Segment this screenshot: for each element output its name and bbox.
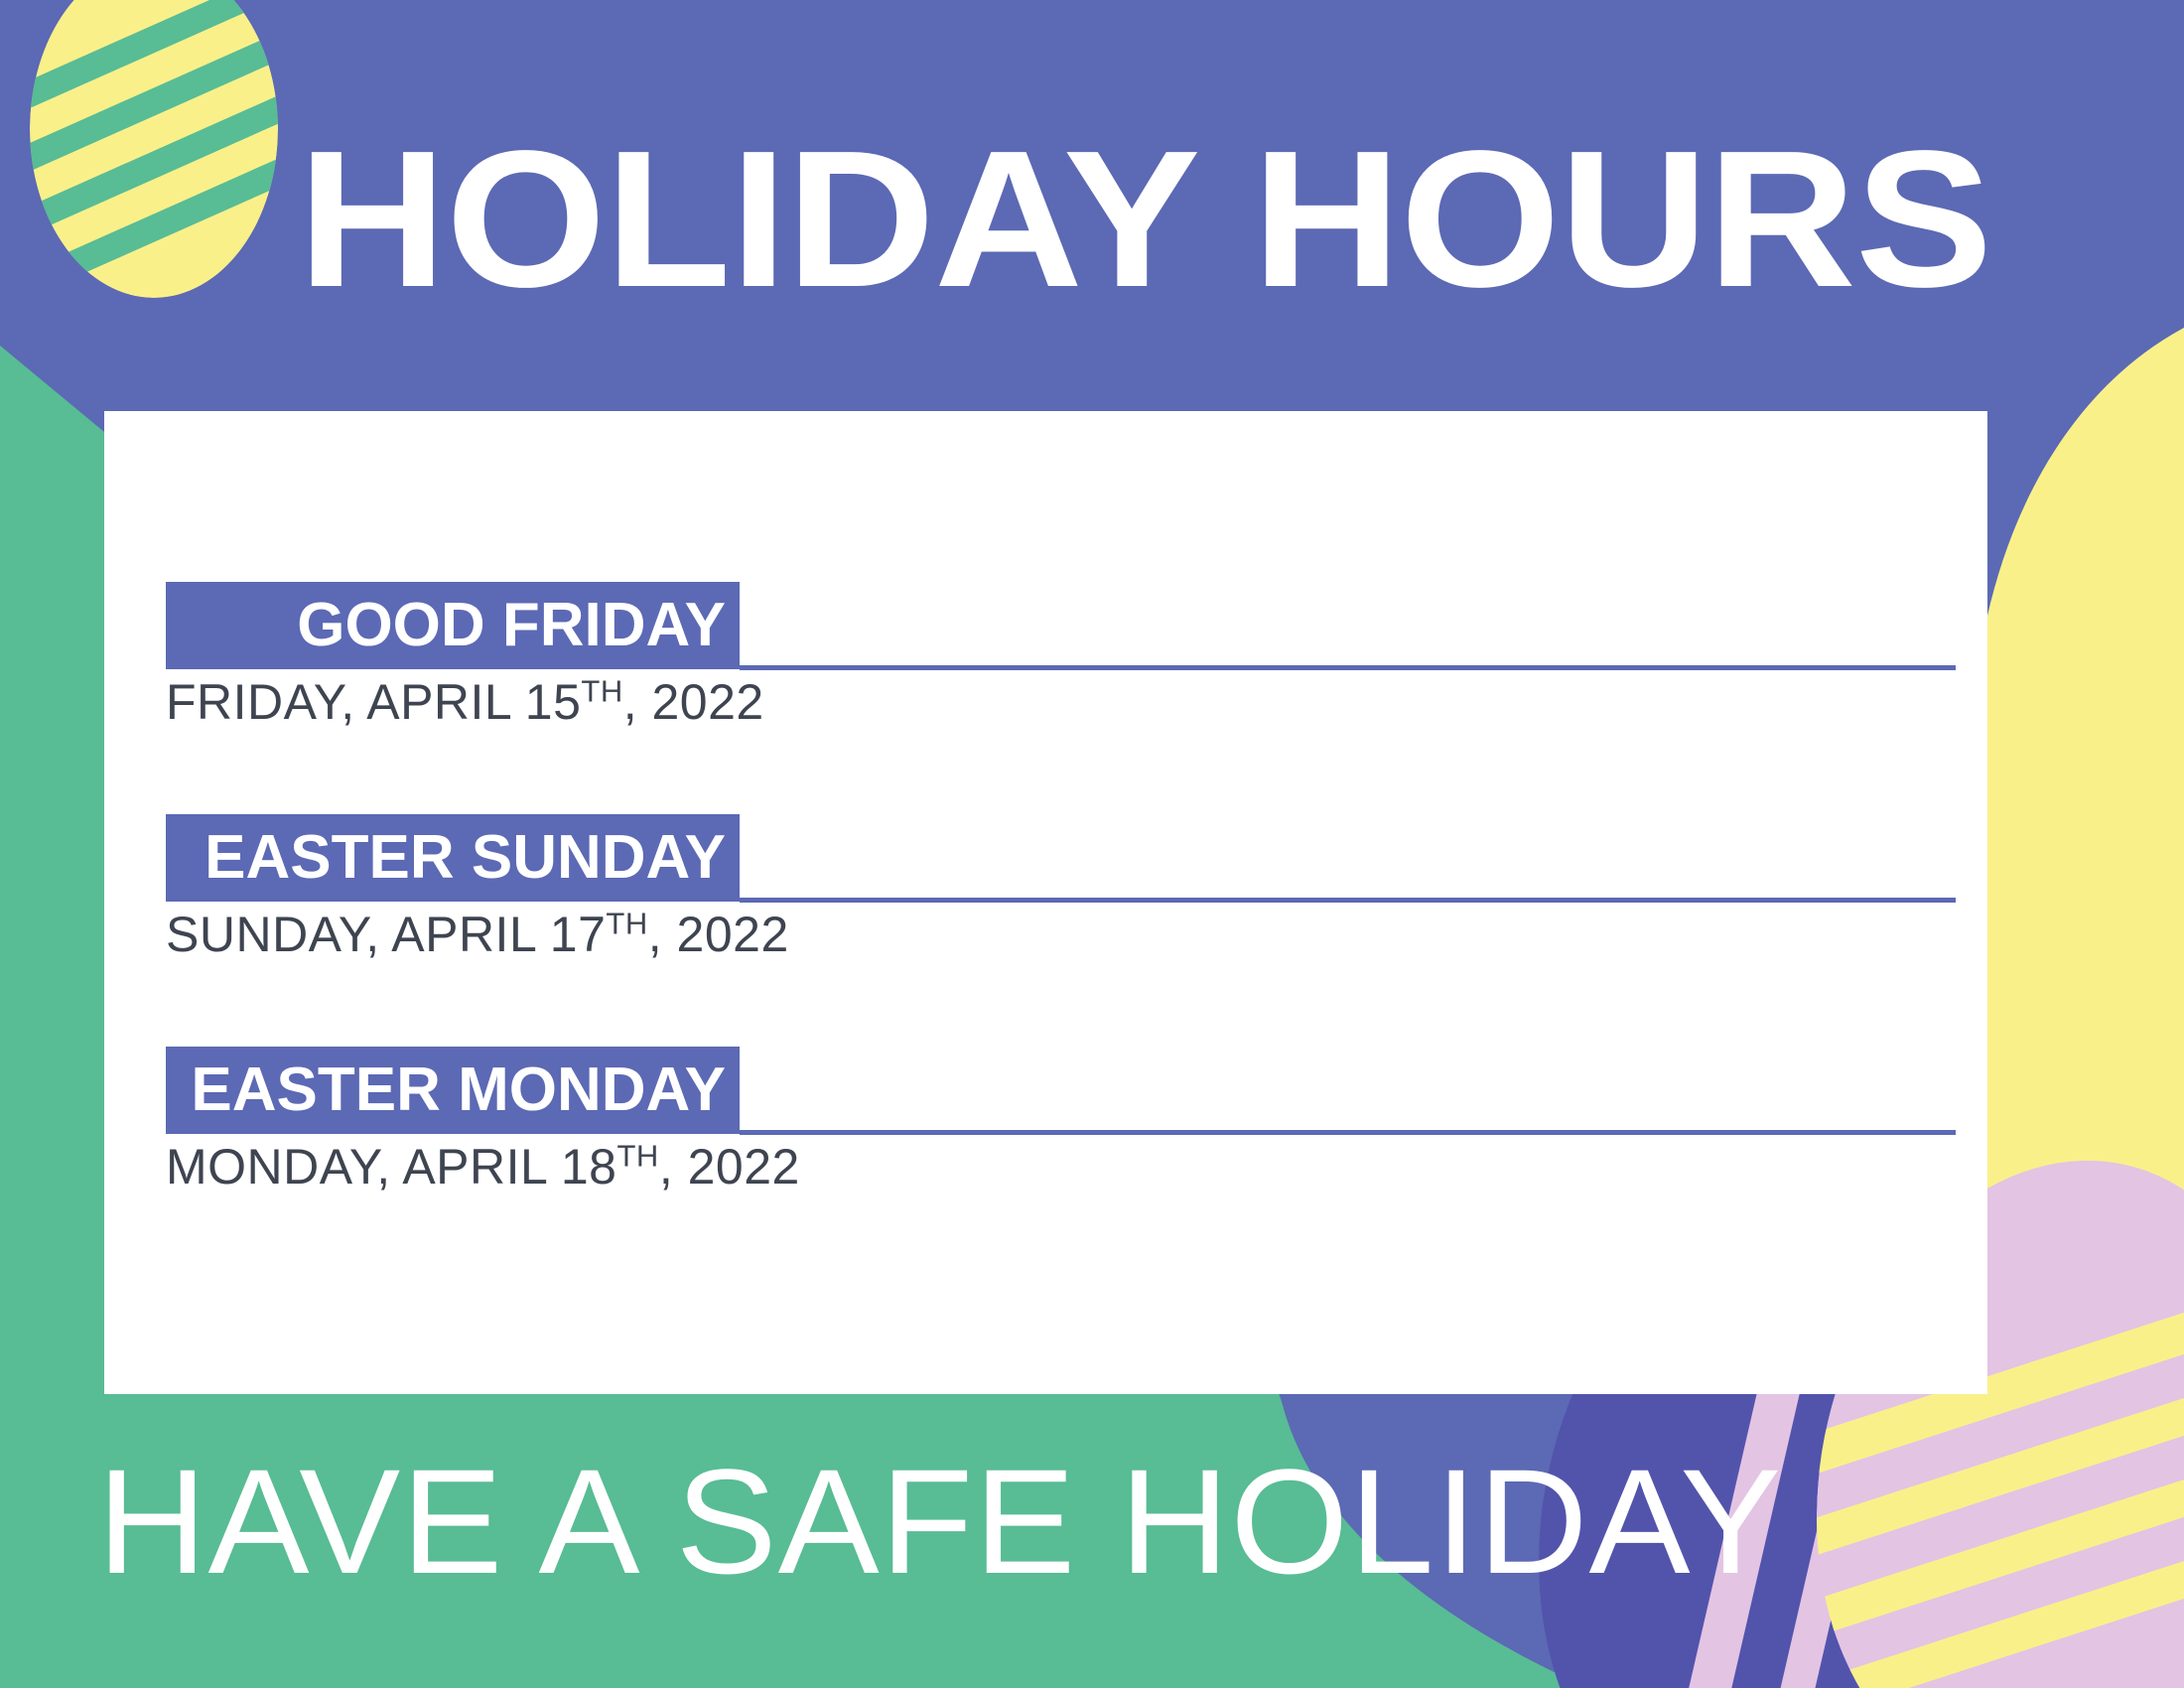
hours-write-in-line[interactable] xyxy=(740,1130,1956,1135)
holiday-row: EASTER SUNDAY SUNDAY, APRIL 17TH, 2022 xyxy=(104,814,1987,902)
holiday-label-bar: EASTER MONDAY xyxy=(166,1047,740,1134)
holiday-date: FRIDAY, APRIL 15TH, 2022 xyxy=(166,669,740,735)
holiday-date-prefix: SUNDAY, APRIL 17 xyxy=(166,907,606,962)
holiday-name: EASTER SUNDAY xyxy=(205,827,726,889)
holiday-label-bar-wrap: EASTER SUNDAY xyxy=(104,814,1987,902)
footer-message: HAVE A SAFE HOLIDAY xyxy=(97,1442,1616,1601)
holiday-label-bar-wrap: GOOD FRIDAY xyxy=(104,582,1987,669)
holiday-date-prefix: MONDAY, APRIL 18 xyxy=(166,1139,616,1195)
holiday-date-suffix: , 2022 xyxy=(648,907,789,962)
holiday-date-ordinal: TH xyxy=(581,673,622,708)
holiday-name: EASTER MONDAY xyxy=(191,1059,726,1121)
holiday-label-bar-wrap: EASTER MONDAY xyxy=(104,1047,1987,1134)
holiday-row: EASTER MONDAY MONDAY, APRIL 18TH, 2022 xyxy=(104,1047,1987,1134)
holiday-list: GOOD FRIDAY FRIDAY, APRIL 15TH, 2022 EAS… xyxy=(104,411,1987,1394)
holiday-date-suffix: , 2022 xyxy=(659,1139,800,1195)
hours-write-in-line[interactable] xyxy=(740,898,1956,903)
holiday-label-bar: GOOD FRIDAY xyxy=(166,582,740,669)
hours-write-in-line[interactable] xyxy=(740,665,1956,670)
holiday-date-ordinal: TH xyxy=(616,1138,658,1173)
holiday-date-suffix: , 2022 xyxy=(623,674,764,730)
holiday-hours-poster: HOLIDAY HOURS GOOD FRIDAY FRIDAY, APRIL … xyxy=(0,0,2184,1688)
holiday-date: SUNDAY, APRIL 17TH, 2022 xyxy=(166,902,740,967)
holiday-date-prefix: FRIDAY, APRIL 15 xyxy=(166,674,581,730)
holiday-date-ordinal: TH xyxy=(606,906,647,940)
holiday-name: GOOD FRIDAY xyxy=(297,595,726,656)
holiday-label-bar: EASTER SUNDAY xyxy=(166,814,740,902)
holiday-date: MONDAY, APRIL 18TH, 2022 xyxy=(166,1134,740,1199)
page-title: HOLIDAY HOURS xyxy=(298,117,2034,326)
holiday-row: GOOD FRIDAY FRIDAY, APRIL 15TH, 2022 xyxy=(104,582,1987,669)
